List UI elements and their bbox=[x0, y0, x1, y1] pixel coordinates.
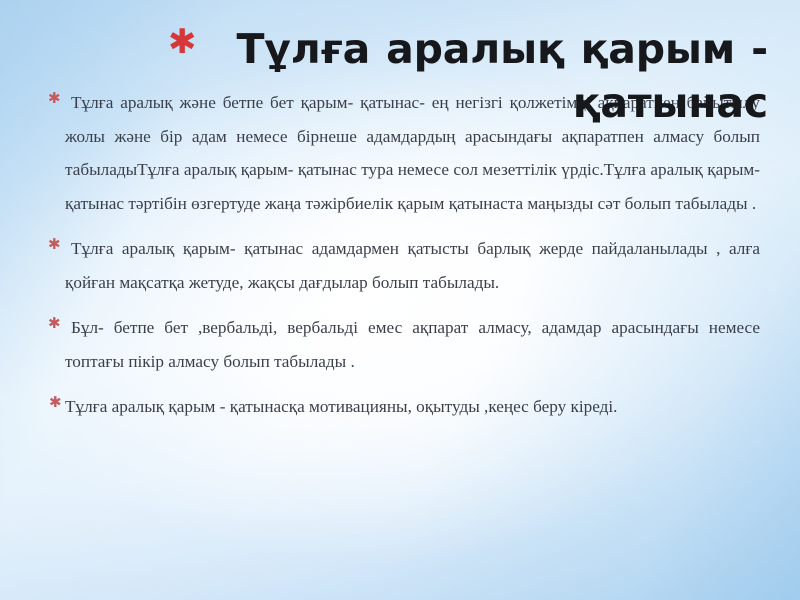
bullet-paragraph-text: Бұл- бетпе бет ,вербальді, вербальді еме… bbox=[65, 318, 760, 371]
bullet-paragraph: ✱Бұл- бетпе бет ,вербальді, вербальді ем… bbox=[48, 311, 760, 378]
bullet-paragraph: ✱Тұлға аралық қарым - қатынасқа мотиваци… bbox=[48, 390, 760, 424]
bullet-paragraph: ✱Тұлға аралық қарым- қатынас адамдармен … bbox=[48, 232, 760, 299]
title-asterisk-icon: ✱ bbox=[168, 24, 197, 60]
presentation-slide: ✱ Тұлға аралық қарым - қатынас ✱Тұлға ар… bbox=[0, 0, 800, 600]
slide-body: ✱Тұлға аралық және бетпе бет қарым- қаты… bbox=[48, 86, 760, 424]
bullet-paragraph-text: Тұлға аралық қарым- қатынас адамдармен қ… bbox=[65, 239, 760, 292]
bullet-asterisk-icon: ✱ bbox=[48, 87, 61, 109]
bullet-paragraph: ✱Тұлға аралық және бетпе бет қарым- қаты… bbox=[48, 86, 760, 220]
bullet-paragraph-text: Тұлға аралық қарым - қатынасқа мотивация… bbox=[65, 397, 617, 416]
bullet-paragraph-text: Тұлға аралық және бетпе бет қарым- қатын… bbox=[65, 93, 760, 213]
bullet-asterisk-icon: ✱ bbox=[48, 312, 61, 334]
bullet-asterisk-icon: ✱ bbox=[48, 233, 61, 255]
bullet-asterisk-icon: ✱ bbox=[49, 391, 62, 413]
